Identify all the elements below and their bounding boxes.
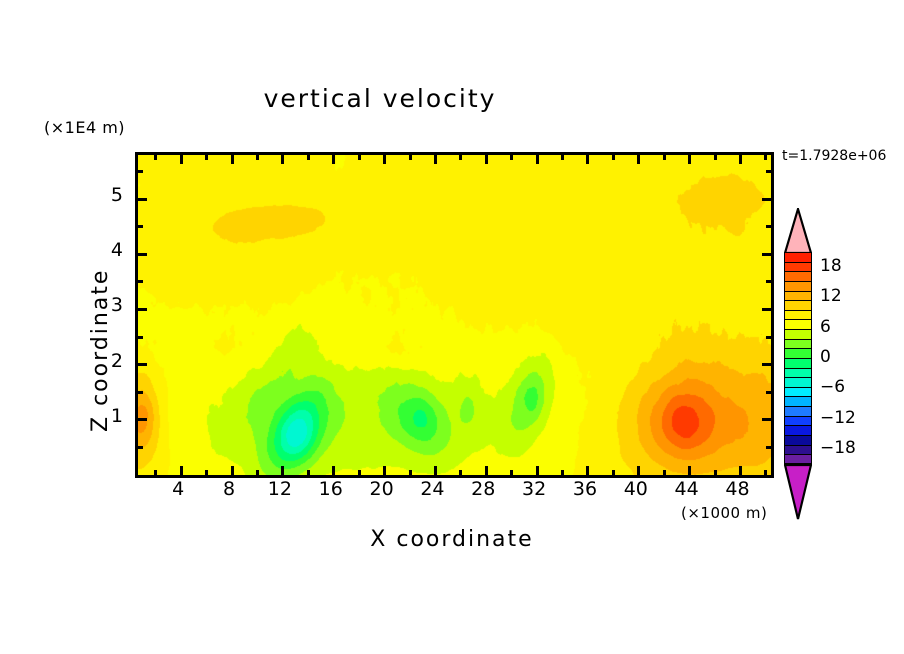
axis-tick — [764, 470, 767, 475]
axis-tick — [637, 466, 640, 475]
y-axis-title: Z coordinate — [88, 112, 113, 432]
axis-tick — [138, 446, 143, 449]
axis-tick — [536, 155, 539, 164]
axis-tick — [409, 470, 412, 475]
colorbar-band — [784, 454, 812, 464]
axis-tick — [154, 470, 157, 475]
axis-tick — [766, 170, 771, 173]
colorbar-band — [784, 377, 812, 387]
colorbar-band — [784, 368, 812, 378]
axis-tick — [536, 466, 539, 475]
page-title: vertical velocity — [0, 84, 760, 113]
colorbar-band — [784, 271, 812, 281]
axis-tick — [766, 336, 771, 339]
x-axis-title: X coordinate — [0, 527, 904, 552]
axis-tick — [138, 198, 147, 201]
axis-tick — [383, 466, 386, 475]
colorbar-over-arrow-icon — [784, 208, 812, 254]
axis-tick — [281, 466, 284, 475]
axis-tick — [561, 155, 564, 160]
colorbar-band — [784, 396, 812, 406]
axis-tick — [764, 155, 767, 160]
axis-tick — [766, 446, 771, 449]
axis-tick — [714, 470, 717, 475]
axis-tick — [663, 470, 666, 475]
contour-plot-area — [135, 152, 774, 478]
colorbar-band — [784, 319, 812, 329]
colorbar-tick-label: 12 — [820, 286, 842, 306]
y-tick-label: 4 — [95, 239, 123, 261]
axis-tick — [138, 225, 143, 228]
axis-tick — [383, 155, 386, 164]
axis-tick — [231, 155, 234, 164]
colorbar-band — [784, 358, 812, 368]
axis-tick — [138, 336, 143, 339]
colorbar-band — [784, 425, 812, 435]
colorbar-bands — [784, 252, 812, 464]
contour-field-canvas — [138, 155, 771, 475]
axis-tick — [762, 418, 771, 421]
colorbar-band — [784, 416, 812, 426]
axis-tick — [739, 155, 742, 164]
axis-tick — [256, 155, 259, 160]
axis-tick — [586, 466, 589, 475]
colorbar-band — [784, 406, 812, 416]
colorbar-band — [784, 339, 812, 349]
axis-tick — [358, 470, 361, 475]
axis-tick — [561, 470, 564, 475]
axis-tick — [154, 155, 157, 160]
colorbar-band — [784, 252, 812, 262]
colorbar-band — [784, 387, 812, 397]
axis-tick — [766, 391, 771, 394]
axis-tick — [688, 155, 691, 164]
colorbar-band — [784, 445, 812, 455]
axis-tick — [358, 155, 361, 160]
colorbar-tick-label: −18 — [820, 438, 856, 458]
axis-tick — [138, 418, 147, 421]
colorbar-band — [784, 348, 812, 358]
axis-tick — [180, 155, 183, 164]
axis-tick — [510, 470, 513, 475]
axis-tick — [281, 155, 284, 164]
axis-tick — [138, 170, 143, 173]
colorbar-tick-label: 18 — [820, 256, 842, 276]
colorbar-band — [784, 291, 812, 301]
x-axis-unit-label: (×1000 m) — [681, 504, 767, 522]
colorbar-band — [784, 300, 812, 310]
axis-tick — [180, 466, 183, 475]
axis-tick — [762, 198, 771, 201]
axis-tick — [138, 308, 147, 311]
axis-tick — [637, 155, 640, 164]
colorbar-tick-label: 0 — [820, 347, 831, 367]
x-tick-label: 48 — [707, 478, 767, 500]
timestamp-label: t=1.7928e+06 — [782, 148, 886, 164]
axis-tick — [256, 470, 259, 475]
colorbar-band — [784, 281, 812, 291]
axis-tick — [612, 155, 615, 160]
y-tick-label: 3 — [95, 294, 123, 316]
colorbar-under-arrow-icon — [784, 464, 812, 520]
axis-tick — [612, 470, 615, 475]
axis-tick — [586, 155, 589, 164]
y-tick-label: 2 — [95, 350, 123, 372]
axis-tick — [510, 155, 513, 160]
colorbar-band — [784, 310, 812, 320]
axis-tick — [138, 280, 143, 283]
axis-tick — [307, 155, 310, 160]
axis-tick — [714, 155, 717, 160]
colorbar-band — [784, 435, 812, 445]
axis-tick — [762, 308, 771, 311]
axis-tick — [307, 470, 310, 475]
colorbar-tick-label: 6 — [820, 317, 831, 337]
axis-tick — [766, 280, 771, 283]
axis-tick — [231, 466, 234, 475]
axis-tick — [762, 253, 771, 256]
axis-tick — [762, 363, 771, 366]
colorbar: 181260−6−12−18 — [780, 208, 890, 520]
axis-tick — [409, 155, 412, 160]
axis-tick — [459, 155, 462, 160]
axis-tick — [434, 155, 437, 164]
y-tick-label: 5 — [95, 184, 123, 206]
axis-tick — [332, 155, 335, 164]
colorbar-band — [784, 262, 812, 272]
axis-tick — [739, 466, 742, 475]
axis-tick — [205, 470, 208, 475]
axis-tick — [459, 470, 462, 475]
axis-tick — [688, 466, 691, 475]
colorbar-tick-label: −12 — [820, 408, 856, 428]
axis-tick — [332, 466, 335, 475]
axis-tick — [205, 155, 208, 160]
axis-tick — [138, 363, 147, 366]
axis-tick — [138, 253, 147, 256]
axis-tick — [766, 225, 771, 228]
axis-tick — [485, 155, 488, 164]
axis-tick — [485, 466, 488, 475]
axis-tick — [138, 391, 143, 394]
colorbar-tick-label: −6 — [820, 377, 845, 397]
axis-tick — [434, 466, 437, 475]
y-tick-label: 1 — [95, 405, 123, 427]
colorbar-band — [784, 329, 812, 339]
axis-tick — [663, 155, 666, 160]
